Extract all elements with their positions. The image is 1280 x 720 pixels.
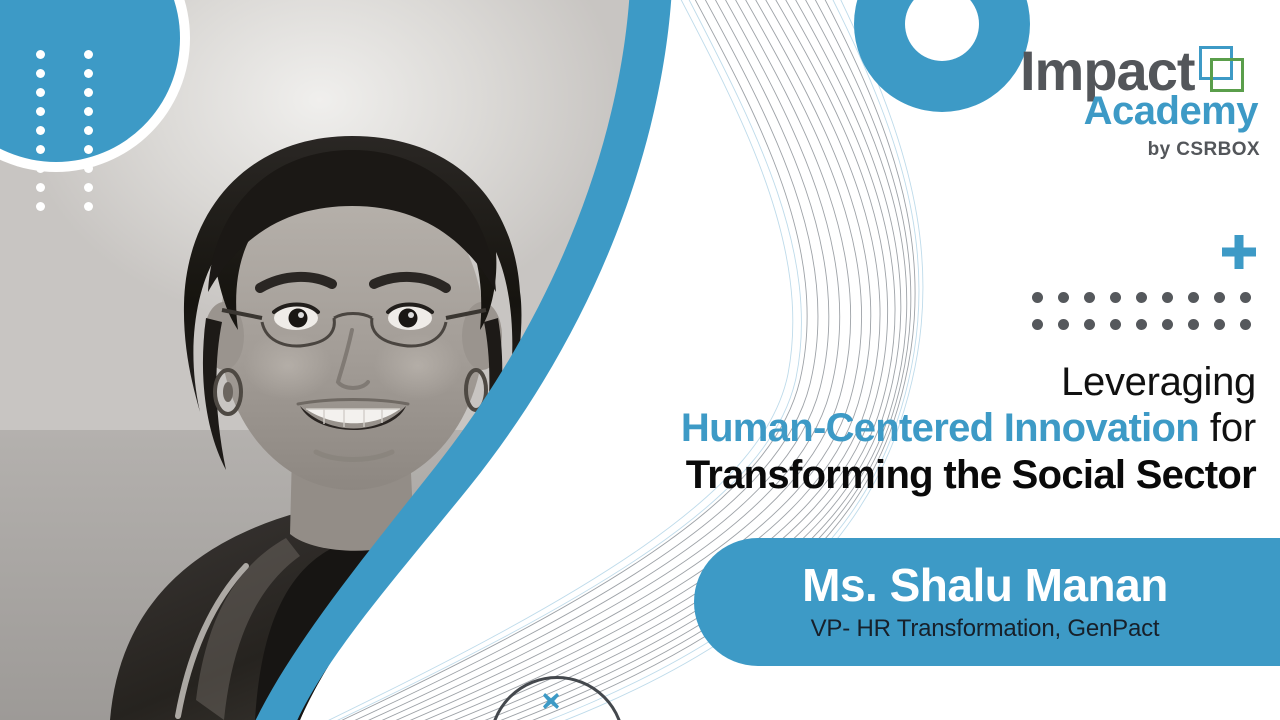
brand-logo[interactable]: Impact Academy by CSRBOX: [1020, 44, 1260, 161]
speaker-name: Ms. Shalu Manan: [802, 561, 1168, 609]
title-line-3: Transforming the Social Sector: [616, 452, 1256, 499]
logo-byline-row: by CSRBOX: [1020, 139, 1260, 161]
dot-grid-decoration: [1032, 292, 1266, 330]
session-title: Leveraging Human-Centered Innovation for…: [616, 360, 1256, 499]
overlapping-squares-mark-icon: [1199, 46, 1247, 94]
title-line-2-tail: for: [1210, 406, 1256, 450]
logo-byline-text: by CSRBOX: [1148, 139, 1260, 161]
plus-icon: [1222, 235, 1256, 269]
slide-canvas: Impact Academy by CSRBOX Leveraging Huma…: [0, 0, 1280, 720]
title-highlight: Human-Centered Innovation: [681, 406, 1199, 450]
x-icon: [540, 690, 562, 712]
speaker-role: VP- HR Transformation, GenPact: [811, 615, 1160, 643]
corner-dot-grid: [36, 50, 108, 211]
title-line-2: Human-Centered Innovation for: [616, 405, 1256, 452]
title-line-1: Leveraging: [616, 360, 1256, 405]
speaker-banner: Ms. Shalu Manan VP- HR Transformation, G…: [694, 538, 1280, 666]
